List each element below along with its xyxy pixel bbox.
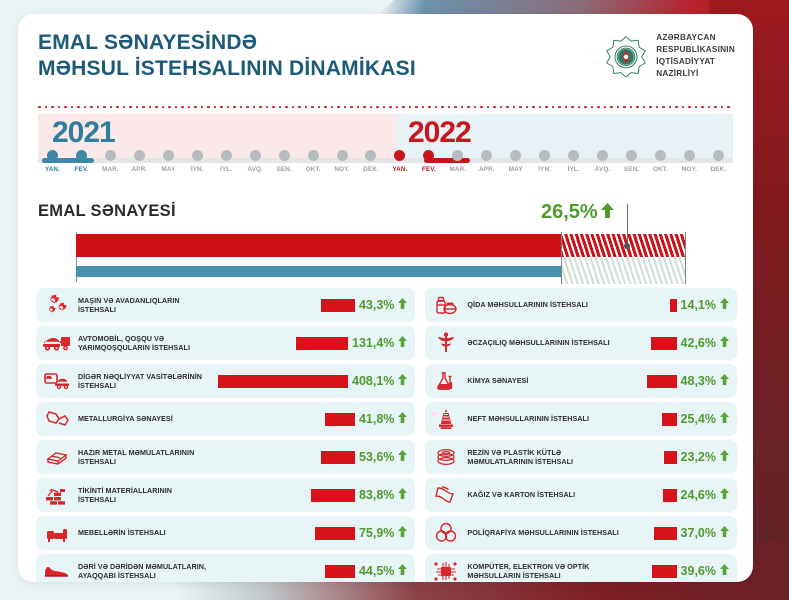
dot xyxy=(84,106,87,108)
dot xyxy=(162,106,165,108)
dot xyxy=(357,106,360,108)
arrow-up-icon xyxy=(720,410,729,428)
arrow-up-icon xyxy=(398,524,407,542)
timeline-month-2022[interactable]: SEN. xyxy=(617,150,646,173)
chip-icon xyxy=(431,558,461,582)
dot xyxy=(649,106,652,108)
dot xyxy=(155,106,158,108)
car-trailer-icon xyxy=(42,330,72,356)
dot xyxy=(519,106,522,108)
timeline-month-2021[interactable]: MAY xyxy=(154,150,183,173)
dot xyxy=(305,106,308,108)
timeline-month-label: İYN. xyxy=(191,166,204,173)
indicator-bar xyxy=(664,451,677,464)
timeline-year-2021: 2021 xyxy=(52,116,115,150)
timeline-dot xyxy=(597,150,608,161)
timeline-dot xyxy=(394,150,405,161)
timeline-month-label: YAN. xyxy=(45,166,60,173)
dot xyxy=(344,106,347,108)
dot xyxy=(220,106,223,108)
arrow-up-icon xyxy=(398,334,407,352)
indicator-percent: 42,6% xyxy=(681,336,716,350)
indicator-name: KAĞIZ VƏ KARTON İSTEHSALI xyxy=(467,490,619,499)
arrow-up-icon xyxy=(720,296,729,314)
dot xyxy=(129,106,132,108)
timeline-month-2022[interactable]: NOY. xyxy=(675,150,704,173)
indicator-percent: 14,1% xyxy=(681,298,716,312)
timeline-dot xyxy=(481,150,492,161)
dot xyxy=(409,106,412,108)
logo-line-3: İQTİSADİYYAT xyxy=(656,56,735,68)
timeline-month-2022[interactable]: FEV. xyxy=(414,150,443,173)
arrow-up-icon xyxy=(720,448,729,466)
indicator-name: REZİN VƏ PLASTİK KÜTLƏ MƏMULATLARININ İS… xyxy=(467,448,619,467)
dot xyxy=(181,106,184,108)
indicator-value-group: 37,0% xyxy=(625,524,729,542)
indicator-value-group: 44,5% xyxy=(218,562,407,580)
timeline-dot xyxy=(452,150,463,161)
flask-icon xyxy=(431,368,461,394)
dot xyxy=(545,106,548,108)
dot xyxy=(298,106,301,108)
caduceus-icon xyxy=(431,330,461,356)
dot xyxy=(318,106,321,108)
indicator-percent: 24,6% xyxy=(681,488,716,502)
timeline-month-label: MAR. xyxy=(102,166,119,173)
dot xyxy=(428,106,431,108)
timeline-month-2021[interactable]: FEV. xyxy=(67,150,96,173)
timeline-month-2021[interactable]: OKT. xyxy=(299,150,328,173)
dot xyxy=(311,106,314,108)
dot xyxy=(58,106,61,108)
dot xyxy=(493,106,496,108)
dot xyxy=(669,106,672,108)
dot xyxy=(71,106,74,108)
indicator-bar xyxy=(321,299,355,312)
timeline-month-2021[interactable]: NOY. xyxy=(328,150,357,173)
dot xyxy=(435,106,438,108)
timeline-month-2022[interactable]: İYN. xyxy=(530,150,559,173)
infographic-card: EMAL SƏNAYESİNDƏ MƏHSUL İSTEHSALININ DİN… xyxy=(18,14,753,582)
timeline-month-2021[interactable]: İYL. xyxy=(212,150,241,173)
dot xyxy=(675,106,678,108)
timeline-month-2021[interactable]: AVQ. xyxy=(241,150,270,173)
logo-line-2: RESPUBLİKASININ xyxy=(656,44,735,56)
indicator-name: QİDA MƏHSULLARININ İSTEHSALI xyxy=(467,300,619,309)
dot xyxy=(38,106,41,108)
timeline-dot xyxy=(655,150,666,161)
indicator-bar xyxy=(325,413,355,426)
indicator-bar xyxy=(652,565,677,578)
indicator-row[interactable]: DİGƏR NƏQLİYYAT VASİTƏLƏRİNİN İSTEHSALI4… xyxy=(36,364,415,398)
dot xyxy=(558,106,561,108)
indicator-percent: 44,5% xyxy=(359,564,394,578)
dot xyxy=(474,106,477,108)
indicator-row[interactable]: MAŞIN VƏ AVADANLIQLARIN İSTEHSALI43,3% xyxy=(36,288,415,322)
timeline-month-label: MAR. xyxy=(449,166,466,173)
indicator-bar xyxy=(321,451,355,464)
dot xyxy=(331,106,334,108)
timeline-month-2022[interactable]: MAR. xyxy=(443,150,472,173)
indicator-value-group: 41,8% xyxy=(218,410,407,428)
timeline-month-2021[interactable]: MAR. xyxy=(96,150,125,173)
indicator-percent: 131,4% xyxy=(352,336,394,350)
dot xyxy=(214,106,217,108)
indicator-name: KİMYA SƏNAYESİ xyxy=(467,376,619,385)
divider-dotted xyxy=(38,106,733,108)
dot xyxy=(422,106,425,108)
dot xyxy=(526,106,529,108)
indicator-value-group: 53,6% xyxy=(218,448,407,466)
indicator-row[interactable]: KOMPÜTER, ELEKTRON VƏ OPTİK MƏHSULLARIN … xyxy=(425,554,737,582)
dot xyxy=(591,106,594,108)
indicator-bar xyxy=(218,375,348,388)
timeline-month-2021[interactable]: YAN. xyxy=(38,150,67,173)
timeline-dot xyxy=(163,150,174,161)
timeline-month-2021[interactable]: İYN. xyxy=(183,150,212,173)
indicator-bar xyxy=(654,527,677,540)
dot xyxy=(396,106,399,108)
timeline-dot xyxy=(279,150,290,161)
timeline-dot xyxy=(221,150,232,161)
indicator-percent: 43,3% xyxy=(359,298,394,312)
main-indicator: EMAL SƏNAYESİ 26,5% xyxy=(38,202,733,284)
dot xyxy=(201,106,204,108)
indicator-percent: 23,2% xyxy=(681,450,716,464)
projection-edge-left xyxy=(561,232,562,284)
timeline-month-label: İYN. xyxy=(538,166,551,173)
indicator-value-group: 75,9% xyxy=(218,524,407,542)
indicator-value-group: 43,3% xyxy=(218,296,407,314)
dot xyxy=(175,106,178,108)
metal-beam-icon xyxy=(42,444,72,470)
dot xyxy=(188,106,191,108)
dot xyxy=(279,106,282,108)
timeline-dot xyxy=(510,150,521,161)
indicator-percent: 37,0% xyxy=(681,526,716,540)
timeline-dot xyxy=(192,150,203,161)
dot xyxy=(64,106,67,108)
timeline-month-label: FEV. xyxy=(422,166,436,173)
timeline-dot xyxy=(337,150,348,161)
timeline-month-label: FEV. xyxy=(74,166,88,173)
timeline-month-label: OKT. xyxy=(653,166,668,173)
dot xyxy=(617,106,620,108)
indicator-bar xyxy=(670,299,677,312)
indicator-bar xyxy=(296,337,348,350)
dot xyxy=(610,106,613,108)
timeline-month-label: APR. xyxy=(132,166,148,173)
rubber-coil-icon xyxy=(431,444,461,470)
dot xyxy=(565,106,568,108)
dot xyxy=(240,106,243,108)
indicator-row[interactable]: NEFT MƏHSULLARININ İSTEHSALI25,4% xyxy=(425,402,737,436)
ministry-logo: AZƏRBAYCAN RESPUBLİKASININ İQTİSADİYYAT … xyxy=(605,32,735,80)
bricks-icon xyxy=(42,482,72,508)
ministry-emblem-icon xyxy=(605,35,647,77)
timeline-dot xyxy=(250,150,261,161)
timeline-dot xyxy=(626,150,637,161)
indicator-row[interactable]: TİKİNTİ MATERİALLARININ İSTEHSALI83,8% xyxy=(36,478,415,512)
left-column: MAŞIN VƏ AVADANLIQLARIN İSTEHSALI43,3%AV… xyxy=(36,288,415,582)
dot xyxy=(441,106,444,108)
timeline-month-label: İYL. xyxy=(220,166,232,173)
dot xyxy=(266,106,269,108)
dot xyxy=(539,106,542,108)
gears-icon xyxy=(42,292,72,318)
projection-region xyxy=(561,232,688,284)
dot xyxy=(721,106,724,108)
dot xyxy=(103,106,106,108)
dot xyxy=(480,106,483,108)
timeline-month-2021[interactable]: DEK. xyxy=(356,150,385,173)
dot xyxy=(402,106,405,108)
dot xyxy=(448,106,451,108)
arrow-up-icon xyxy=(720,334,729,352)
dot xyxy=(389,106,392,108)
indicator-bar xyxy=(663,489,677,502)
dot xyxy=(695,106,698,108)
dot xyxy=(500,106,503,108)
arrow-up-icon xyxy=(720,562,729,580)
timeline-month-2022[interactable]: DEK. xyxy=(704,150,733,173)
dot xyxy=(532,106,535,108)
timeline-dot xyxy=(423,150,434,161)
dot xyxy=(701,106,704,108)
timeline-month-label: AVQ. xyxy=(247,166,263,173)
dot xyxy=(578,106,581,108)
indicator-row[interactable]: KAĞIZ VƏ KARTON İSTEHSALI24,6% xyxy=(425,478,737,512)
dot xyxy=(363,106,366,108)
timeline-month-label: NOY. xyxy=(682,166,697,173)
timeline-month-2022[interactable]: OKT. xyxy=(646,150,675,173)
indicator-bar xyxy=(651,337,677,350)
dot xyxy=(688,106,691,108)
timeline-dot xyxy=(47,150,58,161)
dot xyxy=(337,106,340,108)
projection-hatch-light xyxy=(561,258,686,284)
indicator-name: METALLURGİYA SƏNAYESİ xyxy=(78,414,212,423)
transport-icon xyxy=(42,368,72,394)
dot xyxy=(636,106,639,108)
timeline-month-label: SEN. xyxy=(276,166,291,173)
indicator-row[interactable]: DƏRİ VƏ DƏRİDƏN MƏMULATLARIN, AYAQQABI İ… xyxy=(36,554,415,582)
timeline-dot xyxy=(568,150,579,161)
timeline-dot xyxy=(134,150,145,161)
arrow-up-icon xyxy=(398,372,407,390)
timeline-dot xyxy=(365,150,376,161)
timeline-month-2022[interactable]: APR. xyxy=(472,150,501,173)
timeline-month-2022[interactable]: MAY xyxy=(501,150,530,173)
arrow-up-icon xyxy=(720,372,729,390)
indicator-value-group: 48,3% xyxy=(625,372,729,390)
right-column: QİDA MƏHSULLARININ İSTEHSALI14,1%ƏCZAÇIL… xyxy=(425,288,737,582)
dot xyxy=(370,106,373,108)
indicator-percent: 408,1% xyxy=(352,374,394,388)
dot xyxy=(604,106,607,108)
dot xyxy=(194,106,197,108)
dot xyxy=(415,106,418,108)
dot xyxy=(77,106,80,108)
projection-pointer-line xyxy=(627,204,628,245)
timeline-month-label: AVQ. xyxy=(595,166,611,173)
dot xyxy=(597,106,600,108)
dot xyxy=(123,106,126,108)
paper-sheets-icon xyxy=(431,482,461,508)
timeline-month-2022[interactable]: AVQ. xyxy=(588,150,617,173)
indicator-value-group: 42,6% xyxy=(625,334,729,352)
dot xyxy=(51,106,54,108)
dot xyxy=(253,106,256,108)
dot xyxy=(662,106,665,108)
timeline-dot xyxy=(105,150,116,161)
dot xyxy=(714,106,717,108)
indicator-bar xyxy=(662,413,677,426)
dot xyxy=(324,106,327,108)
timeline-month-label: YAN. xyxy=(392,166,407,173)
timeline-month-label: NOY. xyxy=(334,166,349,173)
dot xyxy=(350,106,353,108)
timeline-month-label: MAY xyxy=(509,166,523,173)
projection-edge-right xyxy=(685,232,686,284)
timeline-dot xyxy=(684,150,695,161)
indicator-value-group: 14,1% xyxy=(625,296,729,314)
dot xyxy=(90,106,93,108)
main-indicator-label: EMAL SƏNAYESİ xyxy=(38,202,733,221)
arrow-up-icon xyxy=(398,448,407,466)
indicator-bar xyxy=(315,527,355,540)
indicator-name: TİKİNTİ MATERİALLARININ İSTEHSALI xyxy=(78,486,212,505)
timeline-month-label: MAY xyxy=(161,166,175,173)
arrow-up-icon xyxy=(398,296,407,314)
indicator-row[interactable]: AVTOMOBİL, QOŞQU VƏ YARIMQOŞQULARIN İSTE… xyxy=(36,326,415,360)
dot xyxy=(682,106,685,108)
indicator-percent: 39,6% xyxy=(681,564,716,578)
ministry-name: AZƏRBAYCAN RESPUBLİKASININ İQTİSADİYYAT … xyxy=(656,32,735,80)
indicator-name: NEFT MƏHSULLARININ İSTEHSALI xyxy=(467,414,619,423)
indicator-percent: 48,3% xyxy=(681,374,716,388)
indicator-row[interactable]: METALLURGİYA SƏNAYESİ41,8% xyxy=(36,402,415,436)
indicator-value-group: 24,6% xyxy=(625,486,729,504)
indicator-name: AVTOMOBİL, QOŞQU VƏ YARIMQOŞQULARIN İSTE… xyxy=(78,334,212,353)
dot xyxy=(487,106,490,108)
dot xyxy=(207,106,210,108)
furniture-icon xyxy=(42,520,72,546)
timeline-months: YAN.FEV.MAR.APR.MAYİYN.İYL.AVQ.SEN.OKT.N… xyxy=(38,150,733,173)
indicator-percent: 41,8% xyxy=(359,412,394,426)
printing-icon xyxy=(431,520,461,546)
dot xyxy=(272,106,275,108)
dot xyxy=(571,106,574,108)
indicator-row[interactable]: POLİQRAFİYA MƏHSULLARININ İSTEHSALI37,0% xyxy=(425,516,737,550)
arrow-up-icon xyxy=(720,486,729,504)
dot xyxy=(168,106,171,108)
dot xyxy=(116,106,119,108)
dot xyxy=(623,106,626,108)
oil-derrick-icon xyxy=(431,406,461,432)
dot xyxy=(708,106,711,108)
dot xyxy=(45,106,48,108)
timeline-year-2022: 2022 xyxy=(408,116,471,150)
indicator-name: POLİQRAFİYA MƏHSULLARININ İSTEHSALI xyxy=(467,528,619,537)
logo-line-1: AZƏRBAYCAN xyxy=(656,32,735,44)
dot xyxy=(233,106,236,108)
indicator-name: MEBELLƏRİN İSTEHSALI xyxy=(78,528,212,537)
arrow-up-icon xyxy=(398,410,407,428)
dot xyxy=(454,106,457,108)
indicator-bar xyxy=(311,489,355,502)
indicator-percent: 53,6% xyxy=(359,450,394,464)
arrow-up-icon xyxy=(398,486,407,504)
indicator-row[interactable]: QİDA MƏHSULLARININ İSTEHSALI14,1% xyxy=(425,288,737,322)
timeline-month-label: İYL. xyxy=(568,166,580,173)
indicator-name: MAŞIN VƏ AVADANLIQLARIN İSTEHSALI xyxy=(78,296,212,315)
indicator-row[interactable]: HAZIR METAL MƏMULATLARININ İSTEHSALI53,6… xyxy=(36,440,415,474)
dot xyxy=(246,106,249,108)
timeline-dot xyxy=(76,150,87,161)
indicator-name: KOMPÜTER, ELEKTRON VƏ OPTİK MƏHSULLARIN … xyxy=(467,562,619,581)
indicator-row[interactable]: MEBELLƏRİN İSTEHSALI75,9% xyxy=(36,516,415,550)
dot xyxy=(136,106,139,108)
indicator-name: DİGƏR NƏQLİYYAT VASİTƏLƏRİNİN İSTEHSALI xyxy=(78,372,212,391)
timeline-month-2022[interactable]: YAN. xyxy=(385,150,414,173)
metallurgy-icon xyxy=(42,406,72,432)
arrow-up-icon xyxy=(720,524,729,542)
indicator-row[interactable]: REZİN VƏ PLASTİK KÜTLƏ MƏMULATLARININ İS… xyxy=(425,440,737,474)
projection-pointer-knob xyxy=(624,243,630,249)
indicator-value-group: 408,1% xyxy=(218,372,407,390)
dot xyxy=(461,106,464,108)
arrow-up-icon xyxy=(398,562,407,580)
arrow-up-icon xyxy=(601,201,614,224)
timeline-month-label: SEN. xyxy=(624,166,639,173)
dot xyxy=(584,106,587,108)
indicator-value-group: 131,4% xyxy=(218,334,407,352)
dot xyxy=(552,106,555,108)
shoe-icon xyxy=(42,558,72,582)
timeline-month-2021[interactable]: SEN. xyxy=(270,150,299,173)
timeline: 2021 2022 YAN.FEV.MAR.APR.MAYİYN.İYL.AVQ… xyxy=(38,114,733,186)
main-indicator-number: 26,5% xyxy=(541,201,598,224)
indicator-row[interactable]: KİMYA SƏNAYESİ48,3% xyxy=(425,364,737,398)
main-indicator-value: 26,5% xyxy=(541,201,614,224)
timeline-dot xyxy=(713,150,724,161)
dot xyxy=(630,106,633,108)
timeline-month-label: DEK. xyxy=(363,166,379,173)
dot xyxy=(383,106,386,108)
indicator-name: ƏCZAÇILIQ MƏHSULLARININ İSTEHSALI xyxy=(467,338,619,347)
indicator-name: HAZIR METAL MƏMULATLARININ İSTEHSALI xyxy=(78,448,212,467)
logo-line-4: NAZİRLİYİ xyxy=(656,68,735,80)
timeline-dot xyxy=(308,150,319,161)
timeline-month-2022[interactable]: İYL. xyxy=(559,150,588,173)
indicator-value-group: 39,6% xyxy=(625,562,729,580)
dot xyxy=(643,106,646,108)
indicator-value-group: 23,2% xyxy=(625,448,729,466)
timeline-month-2021[interactable]: APR. xyxy=(125,150,154,173)
timeline-month-label: APR. xyxy=(479,166,495,173)
indicator-percent: 25,4% xyxy=(681,412,716,426)
food-jar-icon xyxy=(431,292,461,318)
indicator-row[interactable]: ƏCZAÇILIQ MƏHSULLARININ İSTEHSALI42,6% xyxy=(425,326,737,360)
indicator-value-group: 25,4% xyxy=(625,410,729,428)
dot xyxy=(506,106,509,108)
indicator-name: DƏRİ VƏ DƏRİDƏN MƏMULATLARIN, AYAQQABI İ… xyxy=(78,562,212,581)
dot xyxy=(376,106,379,108)
dot xyxy=(656,106,659,108)
indicator-bar xyxy=(647,375,677,388)
dot xyxy=(110,106,113,108)
